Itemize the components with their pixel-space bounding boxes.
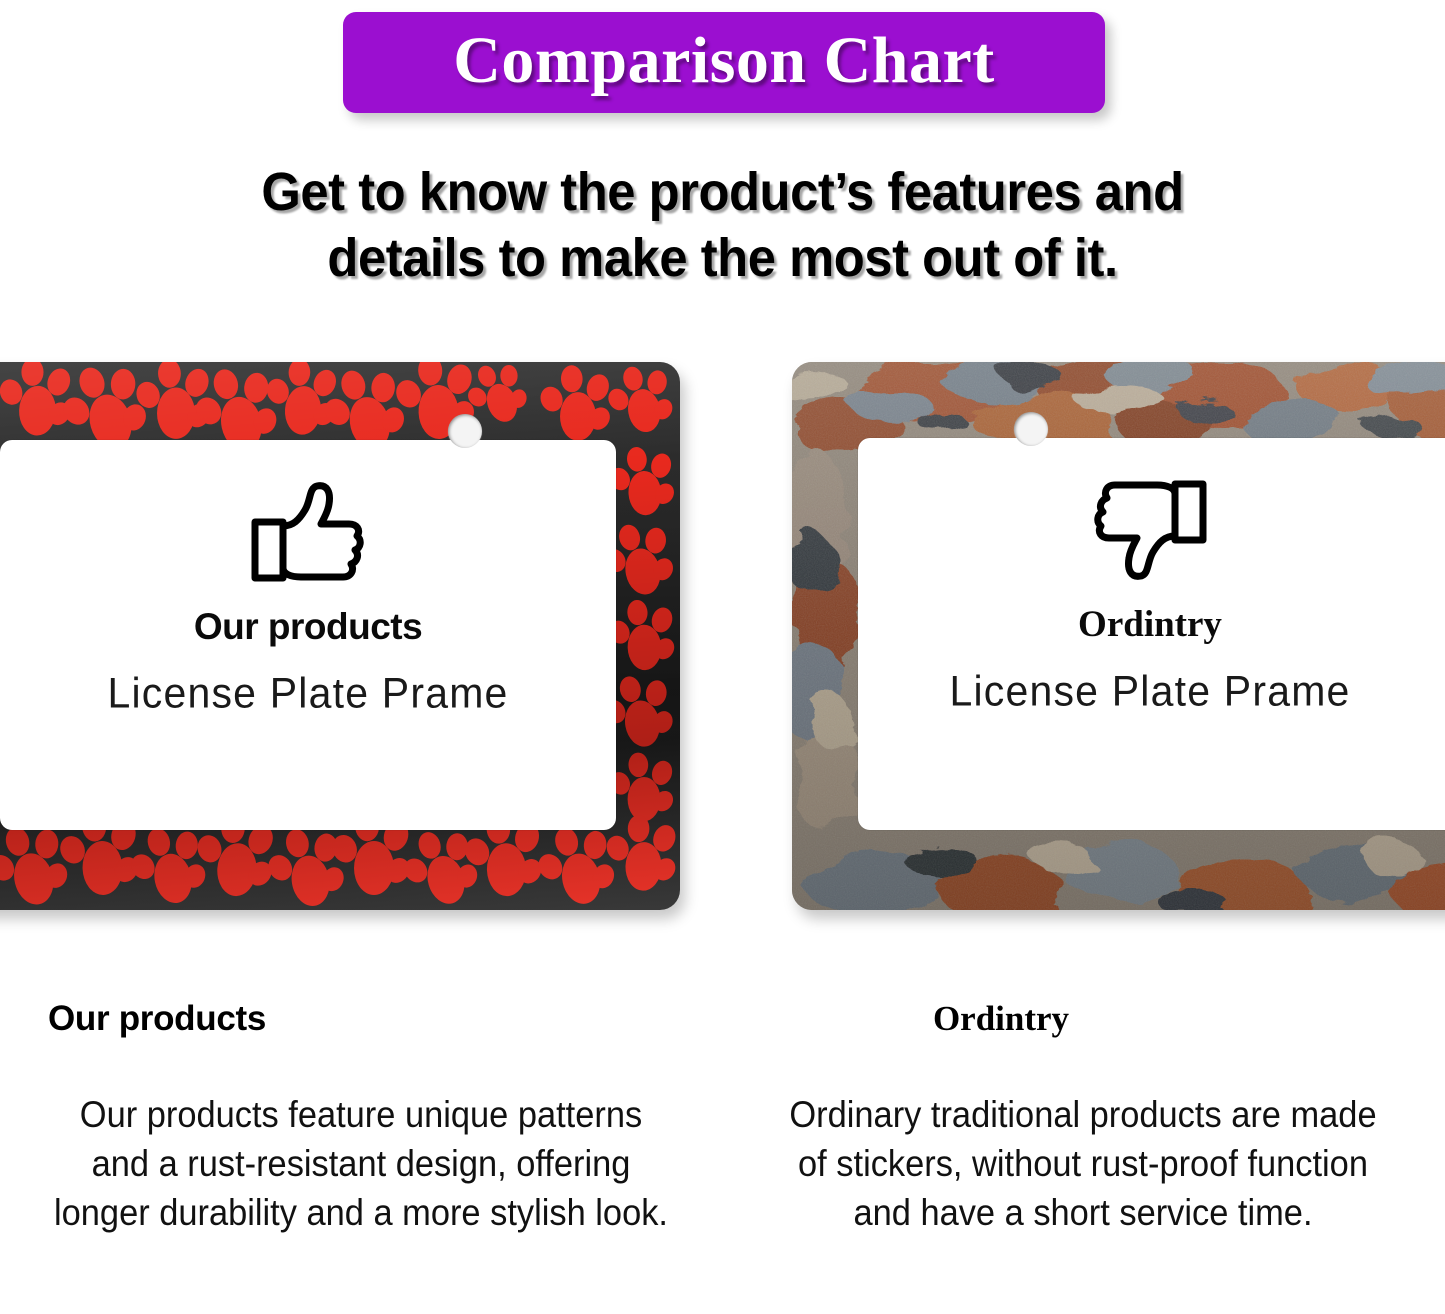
thumbs-down-icon — [1091, 476, 1209, 584]
product-frames-row: Our products License Plate Prame — [0, 362, 1445, 922]
frame-notch-ours — [338, 440, 558, 484]
caption-body-ordinary: Ordinary traditional products are made o… — [747, 1090, 1418, 1238]
mounting-hole-ours — [448, 414, 482, 448]
title-banner: Comparison Chart — [343, 12, 1105, 113]
plate-title-ordinary: Ordintry — [1078, 606, 1222, 643]
plate-subtitle-ours: License Plate Prame — [107, 672, 508, 715]
caption-body-ours: Our products feature unique patterns and… — [25, 1090, 696, 1238]
plate-title-ours: Our products — [194, 608, 422, 645]
caption-column-ordinary: Ordintry Ordinary traditional products a… — [722, 995, 1444, 1314]
plate-subtitle-ordinary: License Plate Prame — [949, 670, 1350, 713]
comparison-captions: Our products Our products feature unique… — [0, 995, 1445, 1314]
title-banner-background: Comparison Chart — [343, 12, 1105, 113]
license-plate-window-ordinary: Ordintry License Plate Prame — [858, 438, 1445, 830]
page-subtitle: Get to know the product’s features and d… — [43, 160, 1401, 292]
page-subtitle-line-1: Get to know the product’s features and — [43, 160, 1401, 226]
page-subtitle-line-2: details to make the most out of it. — [43, 226, 1401, 292]
page-title: Comparison Chart — [453, 28, 995, 98]
caption-column-ours: Our products Our products feature unique… — [0, 995, 722, 1314]
caption-heading-ours: Our products — [0, 1001, 722, 1036]
product-frame-ordinary: Ordintry License Plate Prame — [792, 362, 1445, 910]
product-frame-ours: Our products License Plate Prame — [0, 362, 680, 910]
mounting-hole-ordinary — [1014, 412, 1048, 446]
caption-heading-ordinary: Ordintry — [722, 1001, 1444, 1036]
thumbs-up-icon — [249, 478, 367, 586]
license-plate-window-ours: Our products License Plate Prame — [0, 440, 616, 830]
